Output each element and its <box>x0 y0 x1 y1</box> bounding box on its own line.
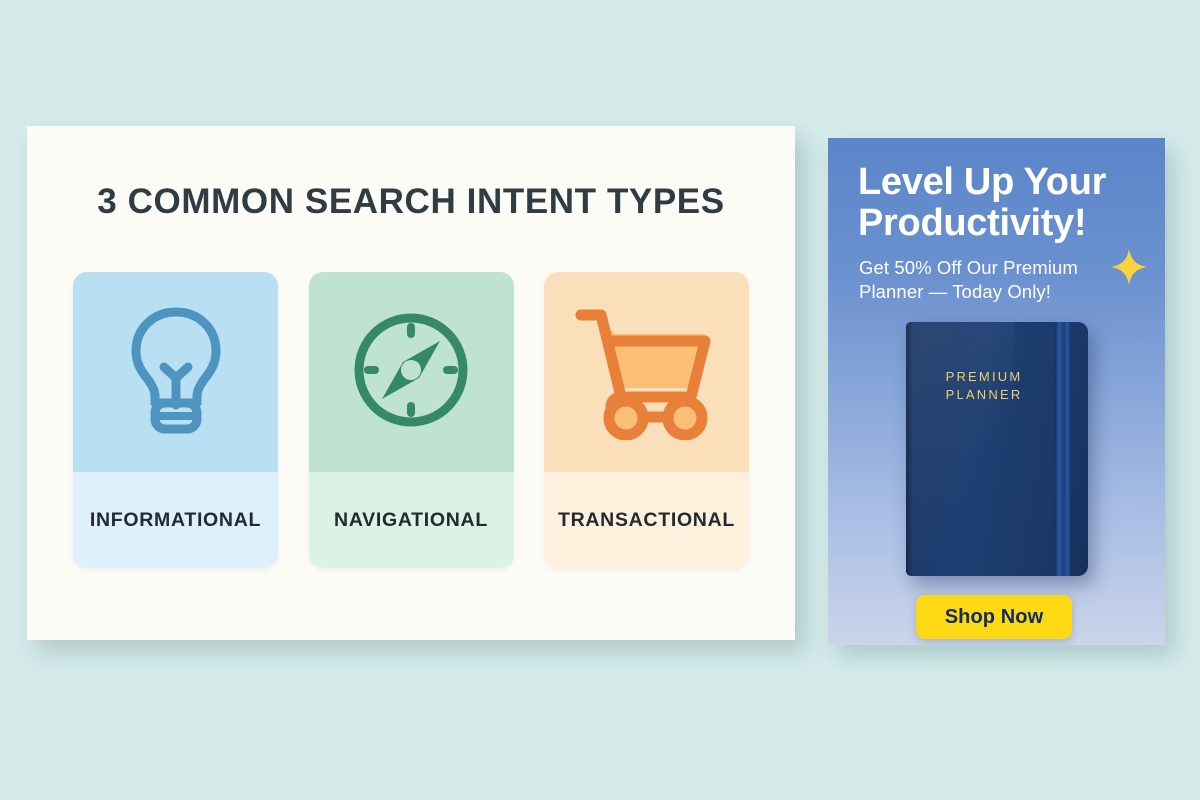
intent-label-transactional: TRANSACTIONAL <box>558 509 735 532</box>
planner-cover-text: PREMIUM PLANNER <box>906 368 1062 405</box>
shopping-cart-icon <box>571 300 723 445</box>
intent-card-informational[interactable]: INFORMATIONAL <box>73 272 278 568</box>
planner-cover-text-line2: PLANNER <box>906 386 1062 404</box>
page-title: 3 COMMON SEARCH INTENT TYPES <box>27 182 795 222</box>
planner-cover-text-line1: PREMIUM <box>906 368 1062 386</box>
intent-label-navigational: NAVIGATIONAL <box>334 509 488 532</box>
intent-icon-zone-informational <box>73 272 278 472</box>
intent-label-zone-navigational: NAVIGATIONAL <box>309 472 514 568</box>
sparkle-icon <box>1110 248 1148 286</box>
intent-card-transactional[interactable]: TRANSACTIONAL <box>544 272 749 568</box>
intent-icon-zone-transactional <box>544 272 749 472</box>
planner-notebook-icon: PREMIUM PLANNER <box>906 322 1088 576</box>
intent-label-zone-transactional: TRANSACTIONAL <box>544 472 749 568</box>
planner-cover: PREMIUM PLANNER <box>906 322 1088 576</box>
planner-sheen <box>906 322 1015 576</box>
compass-icon <box>347 306 475 439</box>
planner-spine <box>906 322 913 576</box>
intent-icon-zone-navigational <box>309 272 514 472</box>
intent-label-zone-informational: INFORMATIONAL <box>73 472 278 568</box>
shop-now-button[interactable]: Shop Now <box>916 595 1072 639</box>
promo-headline: Level Up Your Productivity! <box>858 162 1148 244</box>
planner-elastic-band <box>1055 322 1071 576</box>
intent-label-informational: INFORMATIONAL <box>90 509 261 532</box>
lightbulb-icon <box>124 304 228 441</box>
promo-banner: Level Up Your Productivity! Get 50% Off … <box>828 138 1165 645</box>
promo-subtitle: Get 50% Off Our Premium Planner — Today … <box>859 256 1127 305</box>
search-intent-infographic-card: 3 COMMON SEARCH INTENT TYPES INFORMATION… <box>27 126 795 640</box>
intent-card-row: INFORMATIONAL NAV <box>73 272 749 568</box>
intent-card-navigational[interactable]: NAVIGATIONAL <box>309 272 514 568</box>
